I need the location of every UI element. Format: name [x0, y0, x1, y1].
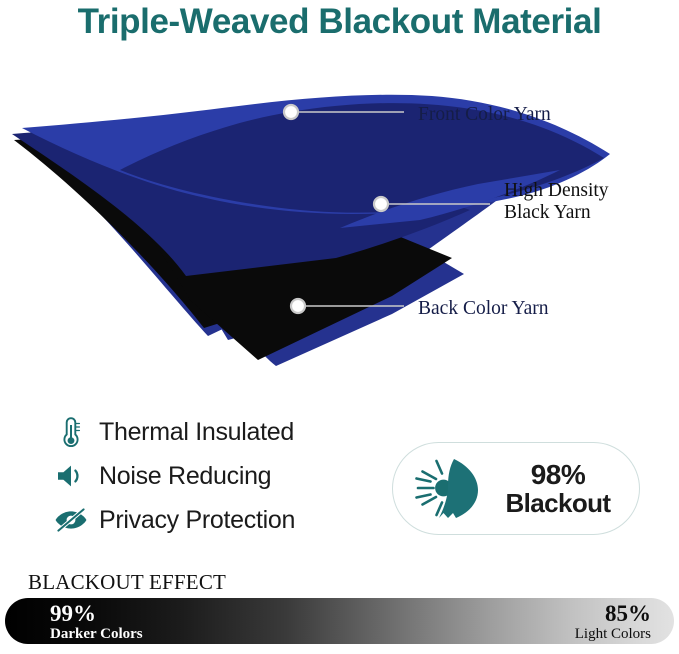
callout-dot-back	[291, 299, 305, 313]
blackout-badge: 98% Blackout	[392, 442, 640, 535]
blackout-effect-heading: BLACKOUT EFFECT	[28, 570, 226, 595]
light-colors-caption: Light Colors	[575, 627, 651, 642]
callout-label-high-density-line2: Black Yarn	[504, 202, 609, 224]
darker-colors-caption: Darker Colors	[50, 627, 143, 642]
feature-item-privacy-protection: Privacy Protection	[50, 498, 380, 542]
feature-list: Thermal Insulated Noise Reducing Privacy…	[50, 410, 380, 542]
feature-item-thermal-insulated: Thermal Insulated	[50, 410, 380, 454]
blackout-percent: 98%	[531, 459, 586, 490]
darker-colors-percent: 99%	[50, 602, 143, 625]
callout-dot-high-density	[374, 197, 388, 211]
feature-label-thermal-insulated: Thermal Insulated	[99, 418, 294, 447]
sun-behind-curtain-icon	[407, 454, 491, 524]
thermometer-icon	[50, 414, 92, 450]
callout-dot-front	[284, 105, 298, 119]
blackout-effect-right-stat: 85% Light Colors	[575, 602, 651, 642]
light-colors-percent: 85%	[575, 602, 651, 625]
speaker-sound-icon	[50, 458, 92, 494]
feature-label-privacy-protection: Privacy Protection	[99, 506, 295, 535]
eye-slash-icon	[50, 502, 92, 538]
callout-label-back: Back Color Yarn	[418, 298, 549, 320]
blackout-word: Blackout	[505, 488, 610, 518]
feature-item-noise-reducing: Noise Reducing	[50, 454, 380, 498]
callout-label-high-density-line1: High Density	[504, 180, 609, 202]
feature-label-noise-reducing: Noise Reducing	[99, 462, 271, 491]
callout-label-high-density: High Density Black Yarn	[504, 180, 609, 224]
blackout-badge-text: 98% Blackout	[491, 460, 639, 517]
callout-label-front: Front Color Yarn	[418, 104, 551, 126]
blackout-effect-left-stat: 99% Darker Colors	[50, 602, 143, 642]
page-title: Triple-Weaved Blackout Material	[0, 2, 679, 42]
